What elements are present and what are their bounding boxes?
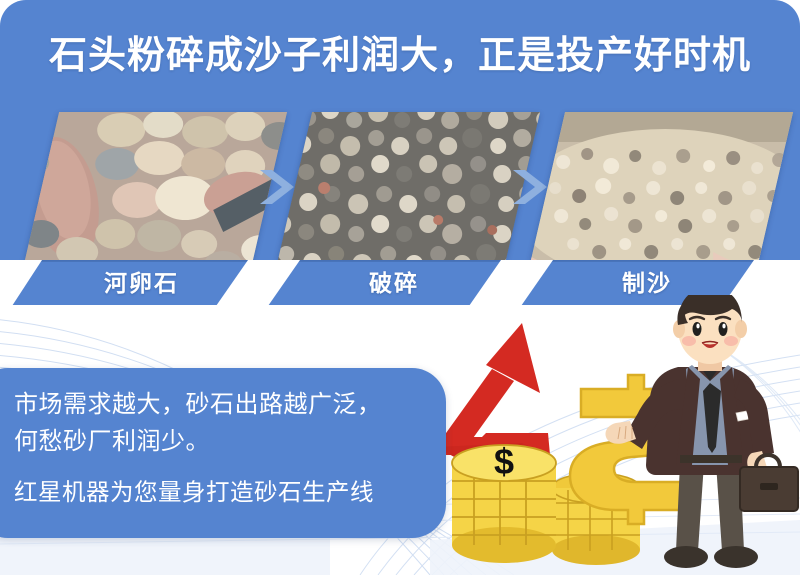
crushed-gravel-photo bbox=[278, 112, 540, 260]
message-card: 市场需求越大，砂石出路越广泛， 何愁砂厂利润少。 红星机器为您量身打造砂石生产线 bbox=[0, 368, 446, 538]
svg-text:$: $ bbox=[494, 441, 514, 482]
process-step-3[interactable]: 制沙 bbox=[548, 112, 776, 260]
poster-root: 石头粉碎成沙子利润大，正是投产好时机 bbox=[0, 0, 800, 575]
message-line-3: 红星机器为您量身打造砂石生产线 bbox=[14, 474, 424, 511]
message-line-1: 市场需求越大，砂石出路越广泛， bbox=[14, 386, 424, 423]
process-step-1[interactable]: 河卵石 bbox=[42, 112, 270, 260]
coin-stack-icon: $ bbox=[452, 441, 556, 563]
river-pebbles-photo bbox=[25, 112, 287, 260]
manufactured-sand-photo bbox=[531, 112, 793, 260]
profit-illustration: $ $ bbox=[430, 295, 800, 575]
process-step-2[interactable]: 破碎 bbox=[295, 112, 523, 260]
message-line-2: 何愁砂厂利润少。 bbox=[14, 423, 424, 460]
process-flow: 河卵石 bbox=[0, 112, 800, 292]
page-title: 石头粉碎成沙子利润大，正是投产好时机 bbox=[0, 24, 800, 79]
up-arrow-icon bbox=[436, 323, 550, 459]
